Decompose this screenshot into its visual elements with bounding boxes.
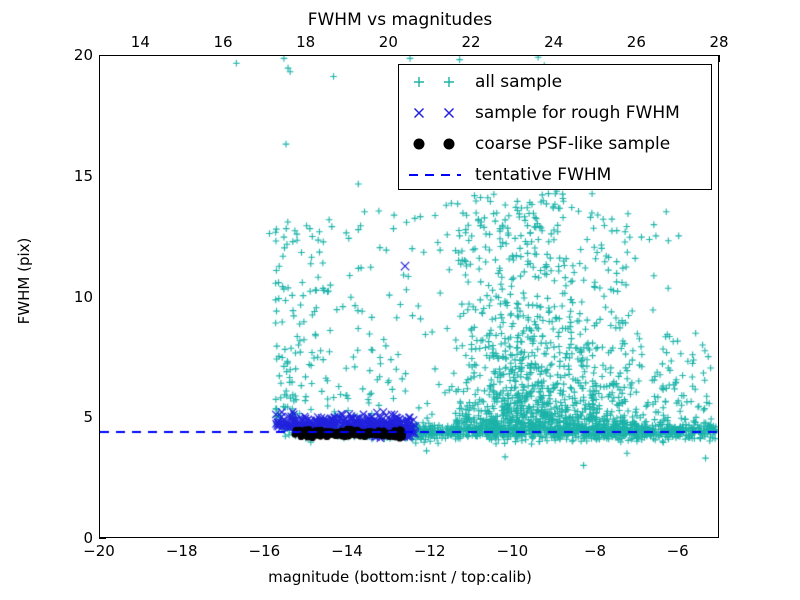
- tick-label: 28: [709, 33, 728, 51]
- tick-mark: [99, 538, 106, 539]
- legend-label: coarse PSF-like sample: [475, 134, 670, 154]
- tick-label: 10: [74, 288, 93, 306]
- tick-label: −16: [249, 542, 281, 560]
- tick-label: 0: [83, 529, 93, 547]
- legend-item: all sample: [399, 66, 711, 97]
- tick-label: 22: [461, 33, 480, 51]
- tick-label: −8: [584, 542, 606, 560]
- legend-marker-x-icon: [399, 97, 475, 128]
- figure: FWHM vs magnitudes FWHM (pix) magnitude …: [0, 0, 800, 600]
- legend-label: all sample: [475, 72, 562, 92]
- legend-item: sample for rough FWHM: [399, 97, 711, 128]
- tick-label: −10: [497, 542, 529, 560]
- y-axis-label: FWHM (pix): [15, 171, 33, 391]
- chart-title: FWHM vs magnitudes: [0, 10, 800, 30]
- tick-label: 18: [296, 33, 315, 51]
- tick-label: 16: [213, 33, 232, 51]
- tick-label: 14: [131, 33, 150, 51]
- tick-label: 20: [74, 46, 93, 64]
- legend-marker-circle-icon: [399, 128, 475, 159]
- legend: all samplesample for rough FWHMcoarse PS…: [398, 64, 712, 190]
- tick-mark: [719, 55, 720, 62]
- legend-label: tentative FWHM: [475, 165, 611, 185]
- legend-item: tentative FWHM: [399, 159, 711, 190]
- legend-label: sample for rough FWHM: [475, 103, 680, 123]
- tick-label: 20: [379, 33, 398, 51]
- tick-label: 15: [74, 167, 93, 185]
- x-axis-label: magnitude (bottom:isnt / top:calib): [0, 568, 800, 586]
- legend-marker-plus-icon: [399, 66, 475, 97]
- legend-item: coarse PSF-like sample: [399, 128, 711, 159]
- tick-label: −12: [414, 542, 446, 560]
- tick-label: 26: [627, 33, 646, 51]
- tick-label: 5: [83, 408, 93, 426]
- tick-label: −18: [166, 542, 198, 560]
- tick-label: −6: [667, 542, 689, 560]
- tick-label: 24: [544, 33, 563, 51]
- legend-marker-dashed-line-icon: [399, 159, 475, 190]
- tick-label: −14: [331, 542, 363, 560]
